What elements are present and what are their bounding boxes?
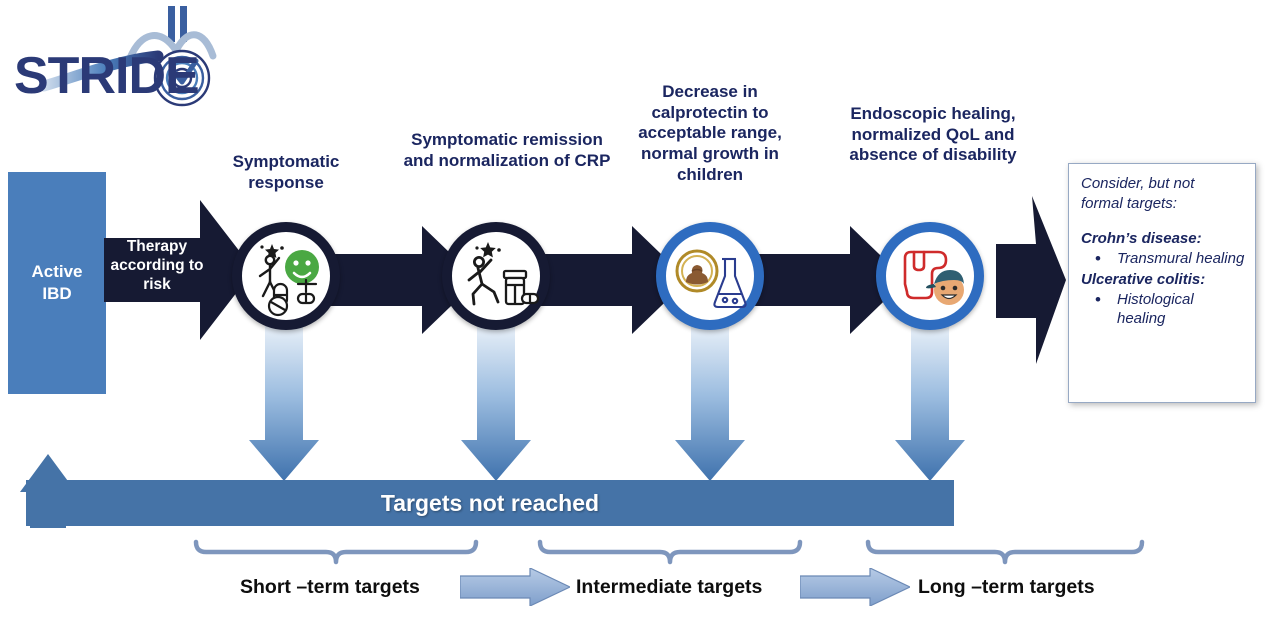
brace-short-term [196, 542, 476, 562]
phase-label-short-term: Short –term targets [240, 576, 420, 599]
down-arrow-step-2 [461, 326, 531, 481]
therapy-arrow-label: Therapy according to risk [110, 238, 204, 295]
node-artwork [876, 222, 984, 330]
phase-label-intermediate: Intermediate targets [576, 576, 762, 599]
active-ibd-label: Active IBD [31, 261, 82, 305]
step-node-calprotectin[interactable] [656, 222, 764, 330]
targets-not-reached-label: Targets not reached [381, 490, 599, 517]
consider-not-formal-targets-box: Consider, but not formal targets: Crohn’… [1068, 163, 1256, 403]
step-heading-2: Symptomatic remission and normalization … [402, 130, 612, 171]
phase-label-long-term: Long –term targets [918, 576, 1095, 599]
final-arrow [988, 196, 1066, 364]
stride-ii-logo: STRIDE [8, 2, 238, 112]
down-arrow-step-1 [249, 326, 319, 481]
down-arrow-step-4 [895, 326, 965, 481]
phase-arrow-short-to-intermediate [460, 568, 570, 606]
running-stick-figure-icon [469, 257, 498, 304]
lab-flask-icon [714, 259, 745, 307]
stride-ii-treat-to-target-diagram: STRIDE Symptomatic response Symptomatic … [0, 0, 1266, 617]
step-node-endoscopic-healing[interactable] [876, 222, 984, 330]
pills-icon [522, 294, 538, 303]
green-smiley-face-icon [285, 250, 319, 284]
note-intro-line-1: Consider, but not [1081, 174, 1245, 194]
brace-intermediate [540, 542, 800, 562]
stool-sample-icon [677, 251, 717, 291]
brace-long-term [868, 542, 1142, 562]
step-heading-4: Endoscopic healing, normalized QoL and a… [834, 104, 1032, 166]
step-node-symptomatic-remission[interactable] [442, 222, 550, 330]
active-ibd-box: Active IBD [8, 172, 106, 394]
step-node-symptomatic-response[interactable] [232, 222, 340, 330]
node-artwork [232, 222, 340, 330]
node-artwork [442, 222, 550, 330]
note-item-histological-healing: Histological healing [1095, 290, 1245, 329]
node-artwork [656, 222, 764, 330]
note-section-title-uc: Ulcerative colitis: [1081, 270, 1245, 290]
note-list-uc: Histological healing [1081, 290, 1245, 329]
step-heading-1: Symptomatic response [196, 152, 376, 193]
down-arrow-step-3 [675, 326, 745, 481]
stars-icon [475, 242, 500, 257]
targets-not-reached-bar: Targets not reached [26, 480, 954, 526]
note-intro-line-2: formal targets: [1081, 194, 1245, 214]
pills-icon [269, 280, 316, 315]
phase-brace-layer [0, 534, 1266, 574]
step-heading-3: Decrease in calprotectin to acceptable r… [612, 82, 808, 186]
note-section-title-crohns: Crohn’s disease: [1081, 229, 1245, 249]
note-list-crohns: Transmural healing [1081, 249, 1245, 269]
note-spacer [1081, 213, 1245, 227]
logo-wordmark: STRIDE [14, 50, 199, 102]
phase-arrow-intermediate-to-long [800, 568, 910, 606]
note-item-transmural-healing: Transmural healing [1095, 249, 1245, 269]
